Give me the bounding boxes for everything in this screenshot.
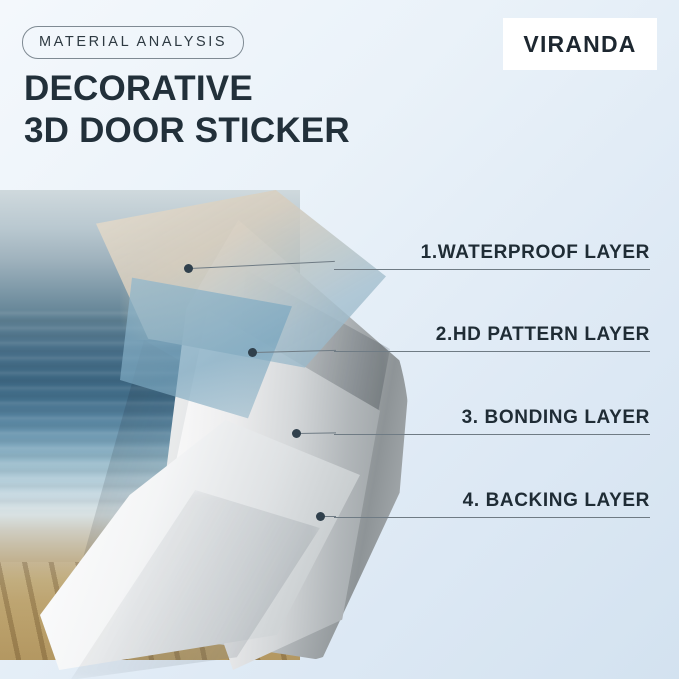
callout-rule-4 xyxy=(334,517,650,518)
callout-hd-pattern-layer: 2.HD PATTERN LAYER xyxy=(330,312,650,352)
brand-logo-box: VIRANDA xyxy=(503,18,657,70)
title-line-1: DECORATIVE xyxy=(24,68,350,110)
callout-bonding-layer: 3. BONDING LAYER xyxy=(330,395,650,435)
callout-label-3: 3. BONDING LAYER xyxy=(462,407,650,429)
brand-name: VIRANDA xyxy=(523,31,636,58)
leader-dot-3 xyxy=(292,429,301,438)
leader-dot-4 xyxy=(316,512,325,521)
page-title: DECORATIVE 3D DOOR STICKER xyxy=(24,68,350,152)
callout-rule-2 xyxy=(334,351,650,352)
callout-label-1: 1.WATERPROOF LAYER xyxy=(421,242,650,264)
callout-waterproof-layer: 1.WATERPROOF LAYER xyxy=(330,230,650,270)
callout-label-2: 2.HD PATTERN LAYER xyxy=(436,324,650,346)
callout-label-4: 4. BACKING LAYER xyxy=(463,490,650,512)
eyebrow-pill: MATERIAL ANALYSIS xyxy=(22,26,244,59)
callout-rule-1 xyxy=(334,269,650,270)
callout-rule-3 xyxy=(334,434,650,435)
title-line-2: 3D DOOR STICKER xyxy=(24,110,350,152)
leader-dot-1 xyxy=(184,264,193,273)
poster-canvas: MATERIAL ANALYSIS DECORATIVE 3D DOOR STI… xyxy=(0,0,679,679)
leader-dot-2 xyxy=(248,348,257,357)
callout-backing-layer: 4. BACKING LAYER xyxy=(330,478,650,518)
